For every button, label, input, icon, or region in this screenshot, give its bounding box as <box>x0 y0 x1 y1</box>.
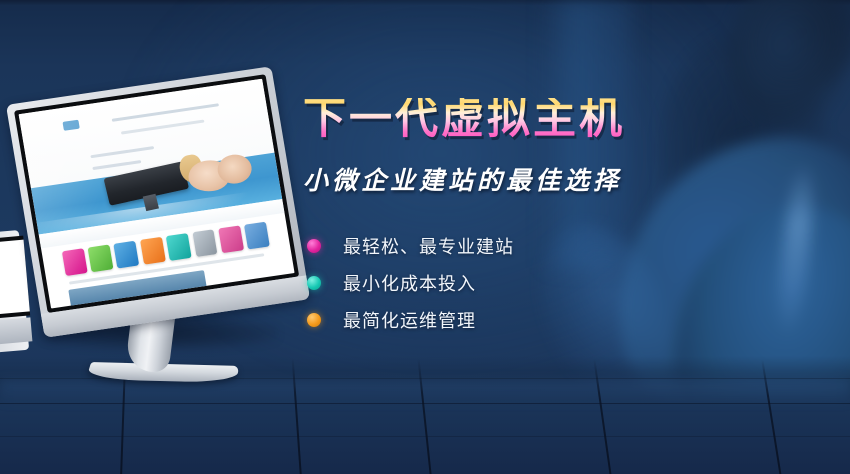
promo-copy-block: 下一代虚拟主机 小微企业建站的最佳选择 最轻松、最专业建站 最小化成本投入 最简… <box>303 98 723 338</box>
monitor-screen <box>19 79 295 309</box>
promo-title: 下一代虚拟主机 <box>303 98 723 141</box>
feature-label: 最小化成本投入 <box>343 270 476 296</box>
bullet-dot-teal-icon <box>307 276 321 290</box>
monitor-frame <box>6 66 310 337</box>
desktop-monitor <box>8 78 298 378</box>
bullet-dot-orange-icon <box>307 313 321 327</box>
list-item: 最小化成本投入 <box>303 264 723 301</box>
monitor-bezel <box>14 74 299 313</box>
feature-label: 最轻松、最专业建站 <box>343 233 514 259</box>
list-item: 最轻松、最专业建站 <box>303 227 723 264</box>
feature-label: 最简化运维管理 <box>343 307 476 333</box>
hosting-promo-banner: 下一代虚拟主机 小微企业建站的最佳选择 最轻松、最专业建站 最小化成本投入 最简… <box>0 0 850 474</box>
bullet-dot-magenta-icon <box>307 239 321 253</box>
promo-subtitle: 小微企业建站的最佳选择 <box>303 161 723 197</box>
feature-list: 最轻松、最专业建站 最小化成本投入 最简化运维管理 <box>303 227 723 338</box>
list-item: 最简化运维管理 <box>303 301 723 338</box>
